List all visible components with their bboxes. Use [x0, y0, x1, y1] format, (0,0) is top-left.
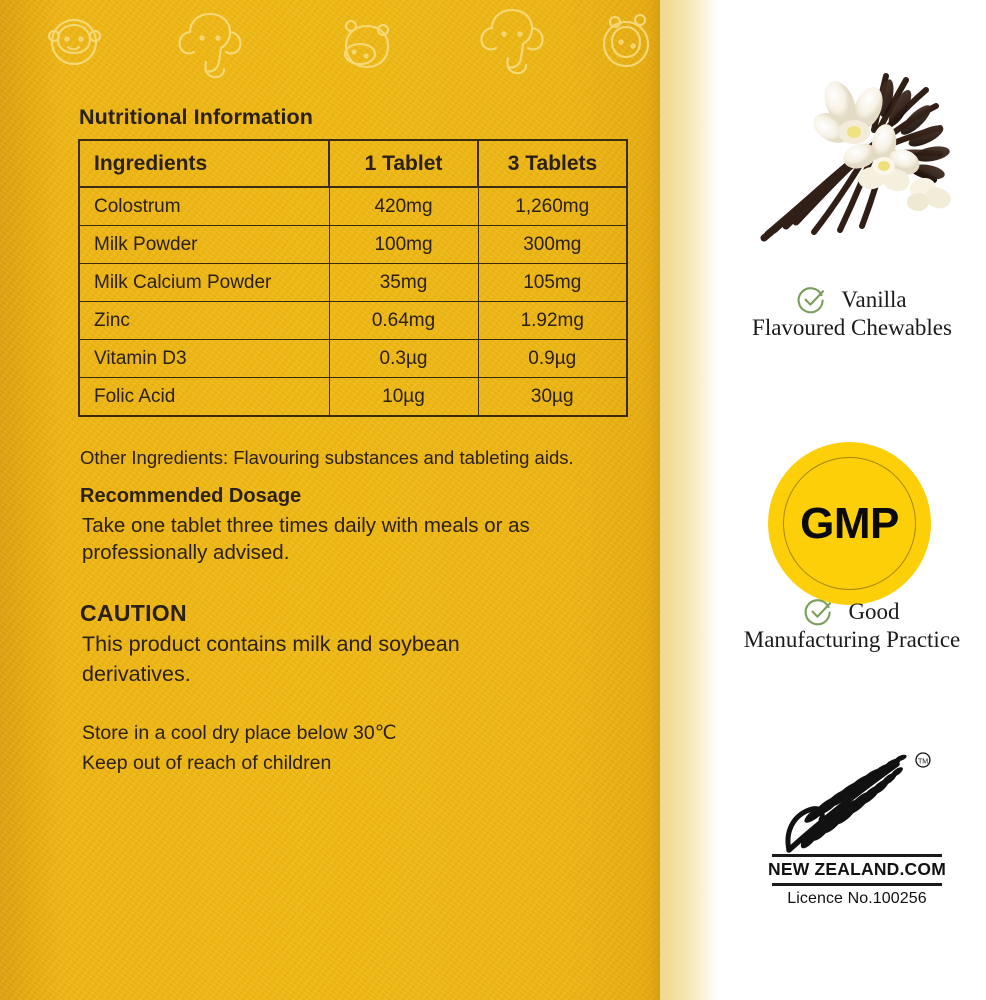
ingredient-name: Zinc	[79, 302, 329, 340]
table-header-row: Ingredients 1 Tablet 3 Tablets	[79, 140, 627, 187]
amount-3-tablets: 30µg	[478, 378, 627, 417]
vanilla-beans-photo	[728, 12, 978, 262]
caution-heading: CAUTION	[80, 600, 187, 627]
feature-vanilla-flavoured-chewables: Vanilla Flavoured Chewables	[704, 286, 986, 341]
table-row: Milk Calcium Powder 35mg 105mg	[79, 264, 627, 302]
elephant-face-icon-2	[481, 10, 542, 73]
table-row: Milk Powder 100mg 300mg	[79, 226, 627, 264]
trademark-symbol: TM	[918, 759, 928, 766]
feature-label-line2: Flavoured Chewables	[704, 315, 986, 341]
table-row: Folic Acid 10µg 30µg	[79, 378, 627, 417]
ingredient-name: Milk Powder	[79, 226, 329, 264]
bear-face-icon	[604, 15, 648, 66]
feature-label-line1: Good	[848, 599, 899, 625]
storage-instructions-text: Store in a cool dry place below 30℃ Keep…	[82, 718, 552, 778]
recommended-dosage-text: Take one tablet three times daily with m…	[82, 512, 582, 566]
ingredient-name: Milk Calcium Powder	[79, 264, 329, 302]
amount-1-tablet: 10µg	[329, 378, 478, 417]
amount-1-tablet: 35mg	[329, 264, 478, 302]
amount-3-tablets: 0.9µg	[478, 340, 627, 378]
feature-label-line1: Vanilla	[841, 287, 906, 313]
table-row: Vitamin D3 0.3µg 0.9µg	[79, 340, 627, 378]
check-circle-icon	[804, 598, 832, 626]
amount-1-tablet: 0.3µg	[329, 340, 478, 378]
amount-1-tablet: 420mg	[329, 187, 478, 226]
caution-text: This product contains milk and soybean d…	[82, 629, 482, 689]
panel-white-seam-gradient	[660, 0, 718, 1000]
elephant-face-icon	[179, 14, 240, 77]
nutrition-table: Ingredients 1 Tablet 3 Tablets Colostrum…	[78, 139, 628, 417]
monkey-face-icon	[49, 20, 100, 64]
ingredient-name: Colostrum	[79, 187, 329, 226]
table-row: Zinc 0.64mg 1.92mg	[79, 302, 627, 340]
gmp-badge-label: GMP	[800, 499, 899, 549]
animal-outline-decor-band	[0, 0, 700, 104]
ingredient-name: Folic Acid	[79, 378, 329, 417]
hippo-face-icon	[345, 21, 388, 67]
amount-3-tablets: 1.92mg	[478, 302, 627, 340]
amount-1-tablet: 0.64mg	[329, 302, 478, 340]
feature-good-manufacturing-practice: Good Manufacturing Practice	[704, 598, 986, 653]
column-header-ingredients: Ingredients	[79, 140, 329, 187]
table-row: Colostrum 420mg 1,260mg	[79, 187, 627, 226]
amount-3-tablets: 105mg	[478, 264, 627, 302]
ingredient-name: Vitamin D3	[79, 340, 329, 378]
other-ingredients-text: Other Ingredients: Flavouring substances…	[80, 447, 574, 469]
column-header-1-tablet: 1 Tablet	[329, 140, 478, 187]
amount-3-tablets: 300mg	[478, 226, 627, 264]
gmp-badge: GMP	[768, 442, 931, 605]
nz-logo-name: NEW ZEALAND.COM	[762, 857, 952, 883]
product-label-page: Nutritional Information Ingredients 1 Ta…	[0, 0, 986, 1000]
amount-1-tablet: 100mg	[329, 226, 478, 264]
right-info-column: Vanilla Flavoured Chewables GMP Good Man…	[718, 0, 986, 1000]
nutritional-information-heading: Nutritional Information	[79, 105, 313, 130]
amount-3-tablets: 1,260mg	[478, 187, 627, 226]
new-zealand-certification-logo: TM NEW ZEALAND.COM Licence No.100256	[762, 752, 952, 908]
feature-label-line2: Manufacturing Practice	[704, 627, 986, 653]
check-circle-icon	[797, 286, 825, 314]
column-header-3-tablets: 3 Tablets	[478, 140, 627, 187]
silver-fern-icon: TM	[777, 752, 937, 854]
nz-logo-licence: Licence No.100256	[762, 886, 952, 908]
recommended-dosage-heading: Recommended Dosage	[80, 485, 301, 508]
